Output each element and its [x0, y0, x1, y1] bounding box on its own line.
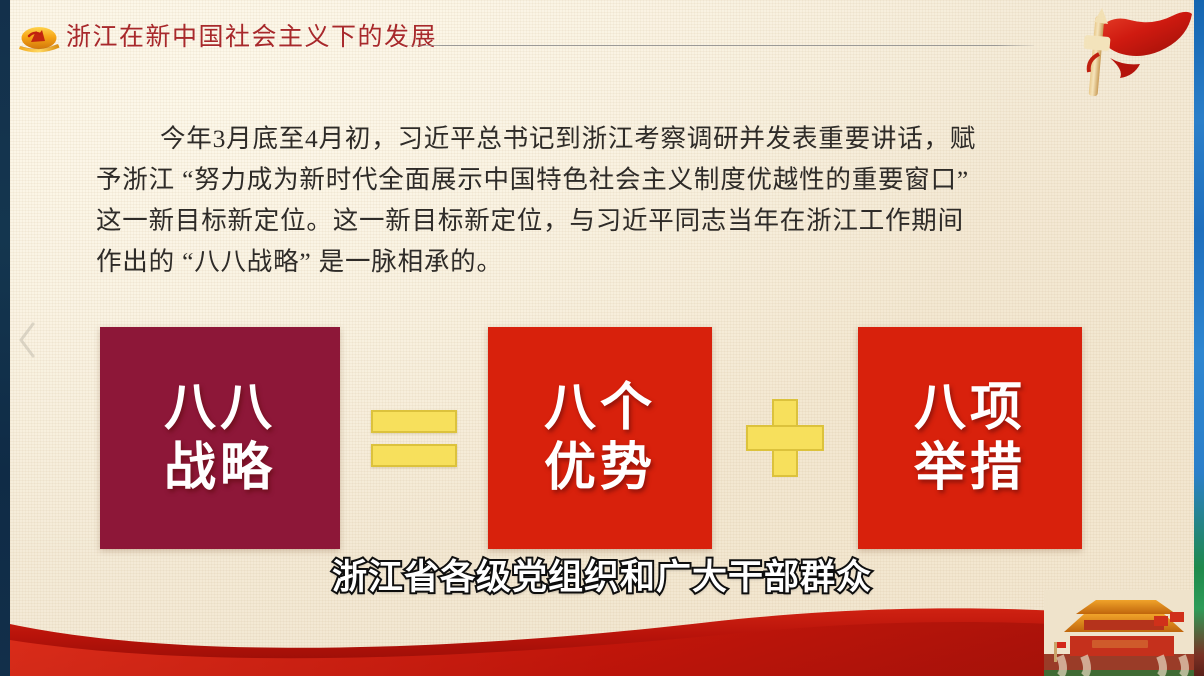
paragraph-line: 作出的 “八八战略” 是一脉相承的。 — [96, 241, 1106, 282]
plus-sign — [712, 327, 858, 549]
box-measures-line2: 举措 — [914, 438, 1026, 498]
tiananmen-gate-icon — [1044, 590, 1194, 676]
paragraph-line: 今年3月底至4月初，习近平总书记到浙江考察调研并发表重要讲话，赋 — [96, 118, 1106, 159]
plus-horizontal-bar — [746, 425, 824, 451]
box-strategy-line1: 八八 — [164, 378, 276, 438]
window-edge-left — [0, 0, 10, 676]
equals-sign — [340, 327, 488, 549]
red-wave-banner — [10, 596, 1194, 676]
presentation-slide: 浙江在新中国社会主义下的发展 — [10, 0, 1194, 676]
box-advantages-line1: 八个 — [544, 378, 656, 438]
paragraph-line: 这一新目标新定位。这一新目标新定位，与习近平同志当年在浙江工作期间 — [96, 200, 1106, 241]
equals-bar-top — [371, 410, 457, 433]
box-advantages: 八个 优势 — [488, 327, 712, 549]
page-title: 浙江在新中国社会主义下的发展 — [66, 18, 437, 58]
ccp-party-emblem-icon — [16, 24, 62, 54]
box-strategy-line2: 战略 — [164, 438, 276, 498]
box-advantages-line2: 优势 — [544, 438, 656, 498]
subtitle-caption: 浙江省各级党组织和广大干部群众 — [10, 556, 1194, 600]
slide-header: 浙江在新中国社会主义下的发展 — [10, 16, 1194, 60]
box-measures-line1: 八项 — [914, 378, 1026, 438]
red-flag-torch-icon — [1044, 0, 1194, 96]
plus-sign-icon — [746, 399, 824, 477]
body-paragraph: 今年3月底至4月初，习近平总书记到浙江考察调研并发表重要讲话，赋 予浙江 “努力… — [96, 118, 1106, 282]
slide-viewer: 浙江在新中国社会主义下的发展 — [0, 0, 1204, 676]
paragraph-line: 予浙江 “努力成为新时代全面展示中国特色社会主义制度优越性的重要窗口” — [96, 159, 1106, 200]
equals-bar-bottom — [371, 444, 457, 467]
box-strategy: 八八 战略 — [100, 327, 340, 549]
box-measures: 八项 举措 — [858, 327, 1082, 549]
window-edge-right — [1194, 0, 1204, 676]
chevron-left-icon[interactable] — [14, 318, 40, 362]
equals-sign-icon — [371, 410, 457, 467]
header-divider — [404, 45, 1034, 46]
equation-diagram: 八八 战略 八个 优势 八项 举措 — [10, 327, 1194, 549]
